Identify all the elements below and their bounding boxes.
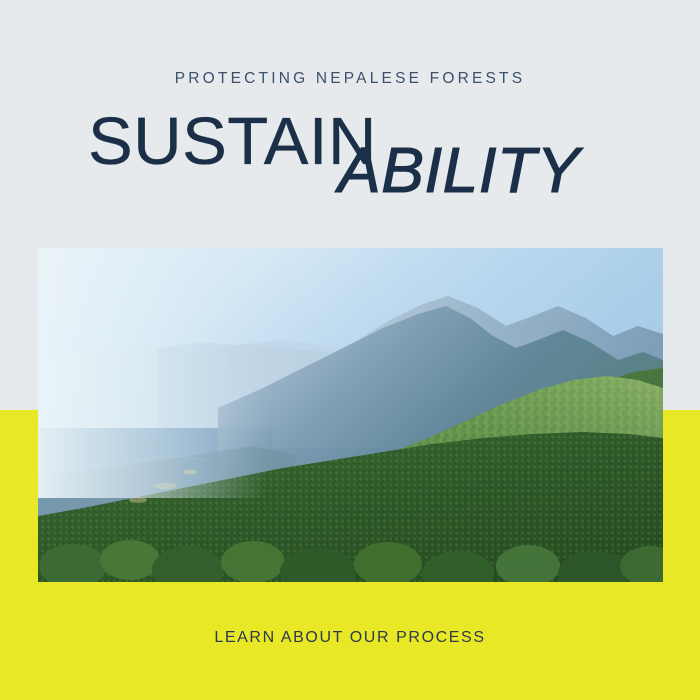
poster-canvas: PROTECTING NEPALESE FORESTS SUSTAIN ABIL… <box>0 0 700 700</box>
hero-photograph <box>38 248 663 582</box>
headline-word-ability: ABILITY <box>338 138 580 202</box>
headline-word-sustain: SUSTAIN <box>88 108 377 175</box>
left-atmospheric-haze <box>38 248 268 498</box>
mountain-landscape-illustration <box>38 248 663 582</box>
kicker-text: PROTECTING NEPALESE FORESTS <box>0 70 700 88</box>
page-title: SUSTAIN ABILITY <box>0 108 700 208</box>
cta-text[interactable]: LEARN ABOUT OUR PROCESS <box>0 629 700 647</box>
headline-wrapper: SUSTAIN ABILITY <box>88 108 618 208</box>
